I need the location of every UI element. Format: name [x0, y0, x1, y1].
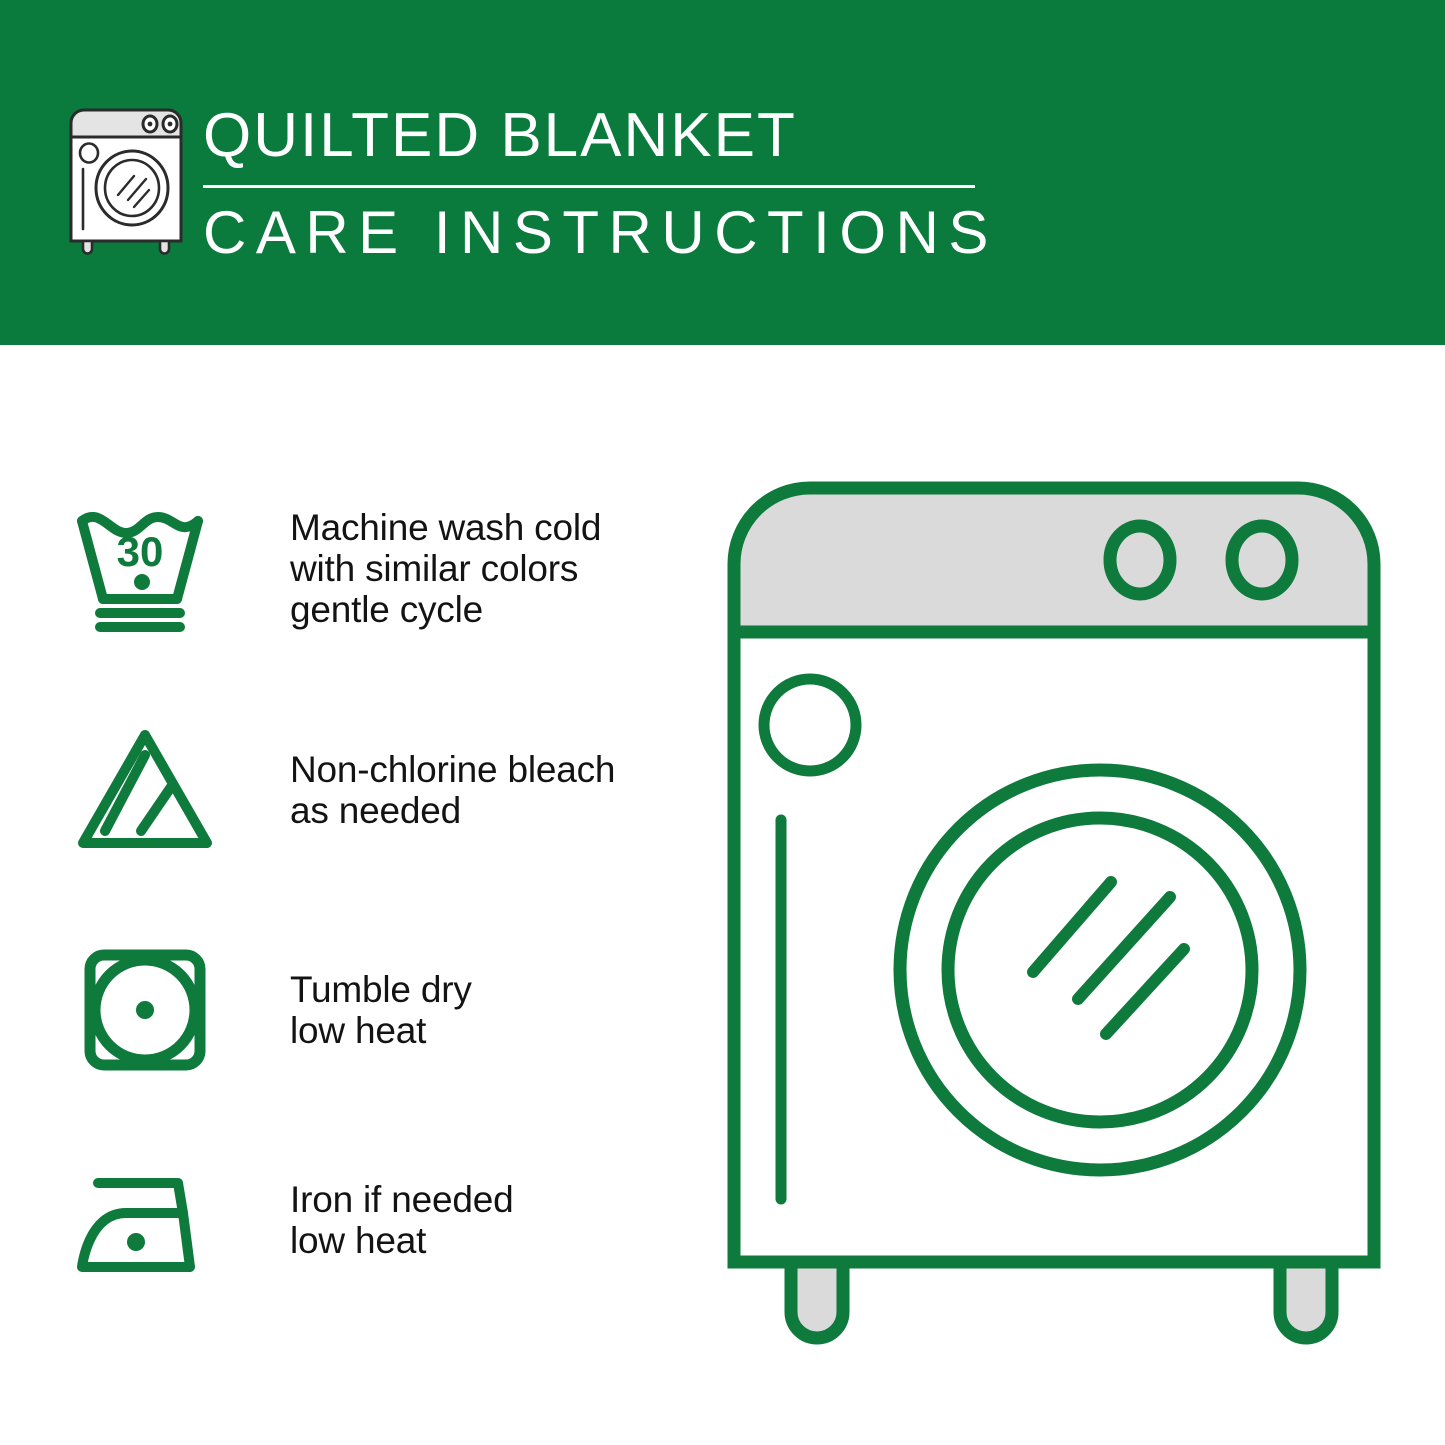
leg-left: [791, 1262, 843, 1338]
control-knob-right: [1232, 526, 1292, 594]
control-knob-left: [1110, 526, 1170, 594]
care-line: Iron if needed: [290, 1179, 690, 1220]
care-row-tumble-dry: Tumble dry low heat: [0, 910, 700, 1110]
title-divider: [203, 185, 975, 188]
care-line: Machine wash cold: [290, 507, 690, 548]
care-row-machine-wash: 30 Machine wash cold with similar colors…: [0, 468, 700, 668]
care-line: Tumble dry: [290, 969, 690, 1010]
care-row-iron: Iron if needed low heat: [0, 1120, 700, 1320]
care-text-tumble-dry: Tumble dry low heat: [290, 910, 690, 1110]
page-title: QUILTED BLANKET: [203, 100, 993, 172]
care-line: gentle cycle: [290, 589, 690, 630]
care-row-bleach: Non-chlorine bleach as needed: [0, 690, 700, 890]
care-text-machine-wash: Machine wash cold with similar colors ge…: [290, 468, 690, 668]
washing-machine-icon: [64, 103, 188, 255]
care-line: with similar colors: [290, 548, 690, 589]
care-line: as needed: [290, 790, 690, 831]
care-line: low heat: [290, 1010, 690, 1051]
care-line: low heat: [290, 1220, 690, 1261]
tumble-dry-low-heat-icon: [70, 935, 220, 1085]
wash-temperature-value: 30: [117, 528, 164, 575]
non-chlorine-bleach-triangle-icon: [70, 715, 220, 865]
care-text-iron: Iron if needed low heat: [290, 1120, 690, 1320]
care-instructions-card: QUILTED BLANKET CARE INSTRUCTIONS 3: [0, 0, 1445, 1445]
washing-machine-illustration: [718, 472, 1418, 1362]
care-line: Non-chlorine bleach: [290, 749, 690, 790]
leg-right: [1280, 1262, 1332, 1338]
wash-tub-30-gentle-icon: 30: [70, 493, 220, 643]
header-title-block: QUILTED BLANKET CARE INSTRUCTIONS: [203, 100, 993, 268]
care-text-bleach: Non-chlorine bleach as needed: [290, 690, 690, 890]
page-subtitle: CARE INSTRUCTIONS: [203, 198, 993, 268]
iron-low-heat-icon: [70, 1145, 220, 1295]
care-instruction-list: 30 Machine wash cold with similar colors…: [0, 345, 700, 1445]
header-banner: QUILTED BLANKET CARE INSTRUCTIONS: [0, 0, 1445, 345]
detergent-port: [764, 679, 856, 771]
